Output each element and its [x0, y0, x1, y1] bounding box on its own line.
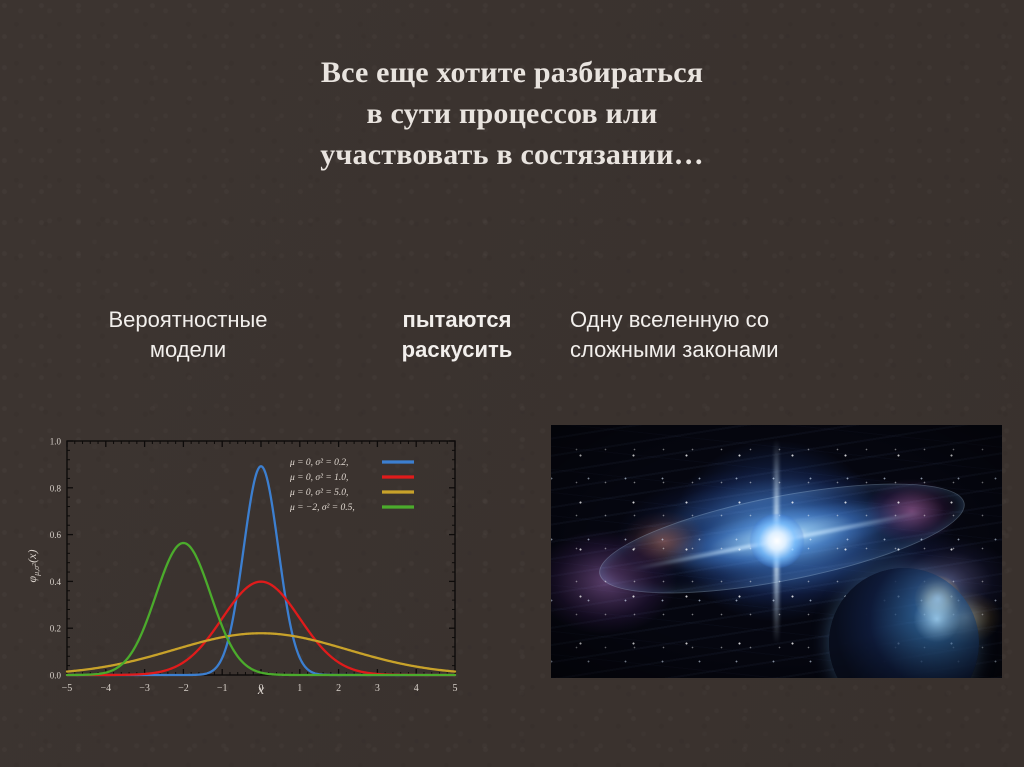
gaussian-curve [67, 466, 455, 675]
y-axis-label: φμ,σ2(x) [25, 550, 41, 583]
x-tick-label: −4 [100, 683, 111, 694]
normal-distribution-chart: −5−4−3−2−1012345 0.00.20.40.60.81.0 μ = … [22, 434, 470, 696]
y-tick-label: 0.4 [50, 577, 62, 587]
y-tick-label: 1.0 [50, 437, 62, 447]
gaussian-curve [67, 543, 455, 675]
x-tick-label: 1 [297, 683, 302, 694]
y-tick-label: 0.6 [50, 530, 62, 540]
legend-label: μ = −2, σ² = 0.5, [289, 503, 355, 513]
x-tick-label: −3 [139, 683, 150, 694]
caption-middle: пытаются раскусить [352, 305, 562, 365]
caption-right-line-1: Одну вселенную со [570, 305, 990, 335]
x-axis-label: x [257, 683, 265, 696]
legend-label: μ = 0, σ² = 5.0, [289, 488, 348, 498]
x-tick-label: 4 [414, 683, 419, 694]
legend-label: μ = 0, σ² = 1.0, [289, 473, 348, 483]
caption-middle-line-2: раскусить [352, 335, 562, 365]
chart-legend: μ = 0, σ² = 0.2,μ = 0, σ² = 1.0,μ = 0, σ… [289, 458, 414, 513]
y-tick-label: 0.8 [50, 483, 62, 493]
gaussian-curve [67, 633, 455, 671]
y-tick-label: 0.2 [50, 624, 61, 634]
x-tick-label: −1 [217, 683, 228, 694]
page-title: Все еще хотите разбираться в сути процес… [0, 52, 1024, 175]
chart-curves [67, 466, 455, 675]
caption-right: Одну вселенную со сложными законами [570, 305, 990, 365]
title-line-3: участвовать в состязании… [0, 134, 1024, 175]
x-tick-label: 2 [336, 683, 341, 694]
title-line-2: в сути процессов или [0, 93, 1024, 134]
chart-svg: −5−4−3−2−1012345 0.00.20.40.60.81.0 μ = … [22, 434, 470, 696]
svg-text:φμ,σ2(x): φμ,σ2(x) [25, 550, 41, 583]
x-tick-label: 5 [453, 683, 458, 694]
y-axis-tick-labels: 0.00.20.40.60.81.0 [50, 437, 62, 681]
image-vignette [551, 425, 1002, 678]
caption-left-line-1: Вероятностные [48, 305, 328, 335]
x-tick-label: −5 [62, 683, 73, 694]
title-line-1: Все еще хотите разбираться [0, 52, 1024, 93]
caption-left: Вероятностные модели [48, 305, 328, 365]
legend-label: μ = 0, σ² = 0.2, [289, 458, 348, 468]
caption-right-line-2: сложными законами [570, 335, 990, 365]
caption-left-line-2: модели [48, 335, 328, 365]
y-tick-label: 0.0 [50, 671, 62, 681]
x-tick-label: 3 [375, 683, 380, 694]
x-tick-label: −2 [178, 683, 189, 694]
caption-middle-line-1: пытаются [352, 305, 562, 335]
galaxy-image [551, 425, 1002, 678]
